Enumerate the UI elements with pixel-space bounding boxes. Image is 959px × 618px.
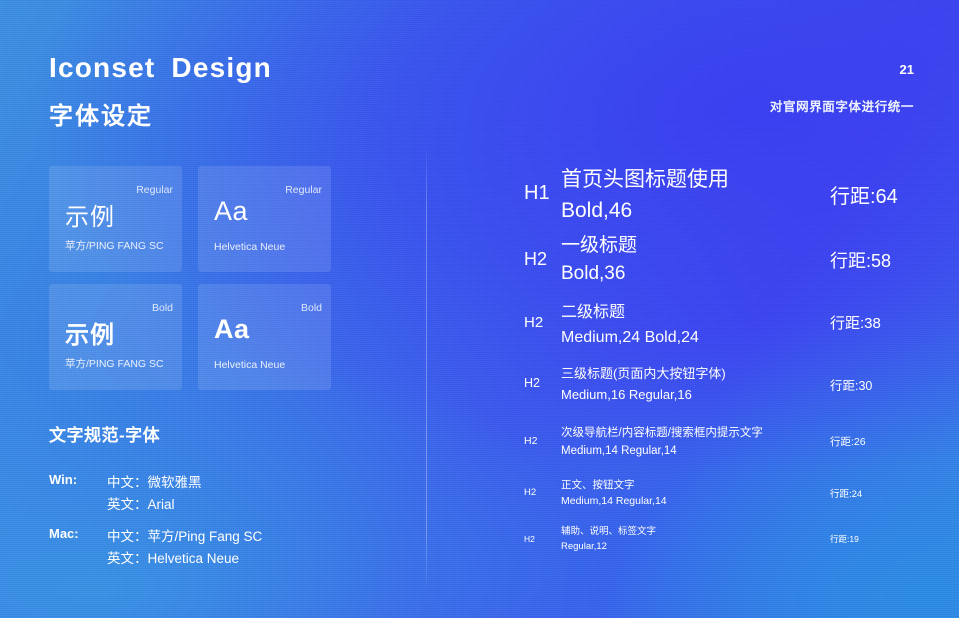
line-height-value: 行距:26 — [830, 434, 866, 449]
type-usage-description: 二级标题 — [561, 300, 699, 325]
platform-label: Win: — [49, 472, 107, 487]
type-weight-size: Medium,24 Bold,24 — [561, 325, 699, 350]
platform-font-group: Mac: 中文：苹方/Ping Fang SC 英文：Helvetica Neu… — [49, 526, 262, 570]
platform-font-line: 英文：Helvetica Neue — [107, 548, 262, 570]
type-usage-description: 一级标题 — [561, 232, 637, 260]
slide-canvas: Iconset Design 字体设定 21 对官网界面字体进行统一 Regul… — [0, 0, 959, 618]
type-scale-body: 一级标题 Bold,36 — [561, 232, 637, 288]
font-family-label: 苹方/PING FANG SC — [65, 356, 164, 371]
platform-font-lines: 中文：微软雅黑 英文：Arial — [107, 472, 202, 516]
type-scale-body: 首页头图标题使用 Bold,46 — [561, 164, 729, 226]
font-sample-glyph: 示例 — [65, 315, 115, 350]
platform-font-line: 英文：Arial — [107, 494, 202, 516]
type-scale-body: 辅助、说明、标签文字 Regular,12 — [561, 524, 656, 554]
type-scale-body: 三级标题(页面内大按钮字体) Medium,16 Regular,16 — [561, 363, 726, 405]
line-height-value: 行距:24 — [830, 486, 862, 500]
line-height-value: 行距:38 — [830, 312, 881, 333]
line-height-value: 行距:30 — [830, 375, 872, 394]
font-family-label: Helvetica Neue — [214, 241, 285, 253]
font-sample-card: Regular Aa Helvetica Neue — [198, 166, 331, 272]
platform-font-line: 中文：微软雅黑 — [107, 472, 202, 494]
line-height-value: 行距:58 — [830, 247, 891, 273]
font-family-label: 苹方/PING FANG SC — [65, 238, 164, 253]
font-sample-card: Bold 示例 苹方/PING FANG SC — [49, 284, 182, 390]
type-weight-size: Bold,36 — [561, 260, 637, 288]
font-sample-glyph: Aa — [214, 314, 250, 345]
font-weight-label: Regular — [285, 184, 322, 196]
heading-level-tag: H2 — [524, 314, 543, 331]
type-weight-size: Bold,46 — [561, 195, 729, 226]
line-height-value: 行距:64 — [830, 180, 898, 209]
font-sample-glyph: Aa — [214, 196, 248, 227]
type-usage-description: 首页头图标题使用 — [561, 164, 729, 195]
heading-level-tag: H1 — [524, 182, 550, 205]
line-height-value: 行距:19 — [830, 533, 859, 545]
type-usage-description: 辅助、说明、标签文字 — [561, 524, 656, 539]
platform-label: Mac: — [49, 526, 107, 541]
type-weight-size: Medium,14 Regular,14 — [561, 493, 667, 509]
type-usage-description: 次级导航栏/内容标题/搜索框内提示文字 — [561, 424, 763, 442]
platform-font-line: 中文：苹方/Ping Fang SC — [107, 526, 262, 548]
type-weight-size: Regular,12 — [561, 539, 656, 554]
font-weight-label: Regular — [136, 184, 173, 196]
platform-font-group: Win: 中文：微软雅黑 英文：Arial — [49, 472, 202, 516]
heading-level-tag: H2 — [524, 534, 535, 544]
platform-font-lines: 中文：苹方/Ping Fang SC 英文：Helvetica Neue — [107, 526, 262, 570]
font-weight-label: Bold — [152, 302, 173, 314]
spec-section-title: 文字规范-字体 — [49, 421, 160, 446]
left-panel: Regular 示例 苹方/PING FANG SC Regular Aa He… — [0, 0, 426, 618]
right-panel: H1 首页头图标题使用 Bold,46 行距:64 H2 一级标题 Bold,3… — [426, 0, 959, 618]
heading-level-tag: H2 — [524, 376, 540, 390]
type-scale-body: 次级导航栏/内容标题/搜索框内提示文字 Medium,14 Regular,14 — [561, 424, 763, 460]
type-usage-description: 三级标题(页面内大按钮字体) — [561, 363, 726, 384]
type-weight-size: Medium,16 Regular,16 — [561, 384, 726, 405]
heading-level-tag: H2 — [524, 249, 547, 270]
font-sample-card: Bold Aa Helvetica Neue — [198, 284, 331, 390]
font-sample-glyph: 示例 — [65, 197, 115, 232]
type-usage-description: 正文、按钮文字 — [561, 477, 667, 493]
heading-level-tag: H2 — [524, 435, 537, 447]
font-weight-label: Bold — [301, 302, 322, 314]
heading-level-tag: H2 — [524, 487, 536, 498]
type-scale-body: 正文、按钮文字 Medium,14 Regular,14 — [561, 477, 667, 509]
font-family-label: Helvetica Neue — [214, 359, 285, 371]
type-weight-size: Medium,14 Regular,14 — [561, 442, 763, 460]
type-scale-body: 二级标题 Medium,24 Bold,24 — [561, 300, 699, 350]
font-sample-card: Regular 示例 苹方/PING FANG SC — [49, 166, 182, 272]
